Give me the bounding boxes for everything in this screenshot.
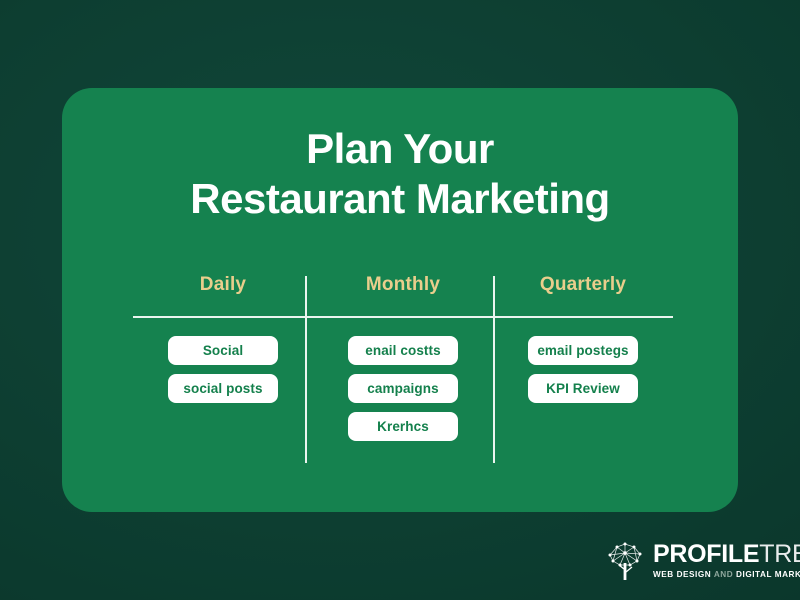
list-item[interactable]: enail costts <box>348 336 458 365</box>
tagline-part-1: WEB DESIGN <box>653 570 711 579</box>
logo-tagline: WEB DESIGN AND DIGITAL MARKETING <box>653 571 800 579</box>
list-item[interactable]: KPI Review <box>528 374 638 403</box>
header-divider-horizontal <box>133 316 673 318</box>
tagline-part-2: DIGITAL MARKETING <box>736 570 800 579</box>
planning-table: Daily Monthly Quarterly Social social po… <box>133 274 673 474</box>
table-header-row: Daily Monthly Quarterly <box>133 274 673 310</box>
logo-wordmark: PROFILE TREE <box>653 542 800 567</box>
column-quarterly: email postegs KPI Review <box>493 326 673 441</box>
column-header-monthly: Monthly <box>313 274 493 310</box>
logo-word-profile: PROFILE <box>653 542 759 567</box>
tree-network-icon <box>606 541 644 581</box>
table-body: Social social posts enail costts campaig… <box>133 326 673 441</box>
column-header-daily: Daily <box>133 274 313 310</box>
title-line-2: Restaurant Marketing <box>62 174 738 224</box>
profiletree-logo: PROFILE TREE WEB DESIGN AND DIGITAL MARK… <box>606 541 800 581</box>
column-monthly: enail costts campaigns Krerhcs <box>313 326 493 441</box>
tagline-and: AND <box>714 570 733 579</box>
list-item[interactable]: social posts <box>168 374 278 403</box>
column-daily: Social social posts <box>133 326 313 441</box>
title-line-1: Plan Your <box>62 124 738 174</box>
list-item[interactable]: Krerhcs <box>348 412 458 441</box>
page-title: Plan Your Restaurant Marketing <box>62 124 738 223</box>
list-item[interactable]: campaigns <box>348 374 458 403</box>
logo-word-tree: TREE <box>759 542 800 567</box>
logo-text: PROFILE TREE WEB DESIGN AND DIGITAL MARK… <box>653 542 800 579</box>
list-item[interactable]: Social <box>168 336 278 365</box>
column-header-quarterly: Quarterly <box>493 274 673 310</box>
list-item[interactable]: email postegs <box>528 336 638 365</box>
content-card: Plan Your Restaurant Marketing Daily Mon… <box>62 88 738 512</box>
